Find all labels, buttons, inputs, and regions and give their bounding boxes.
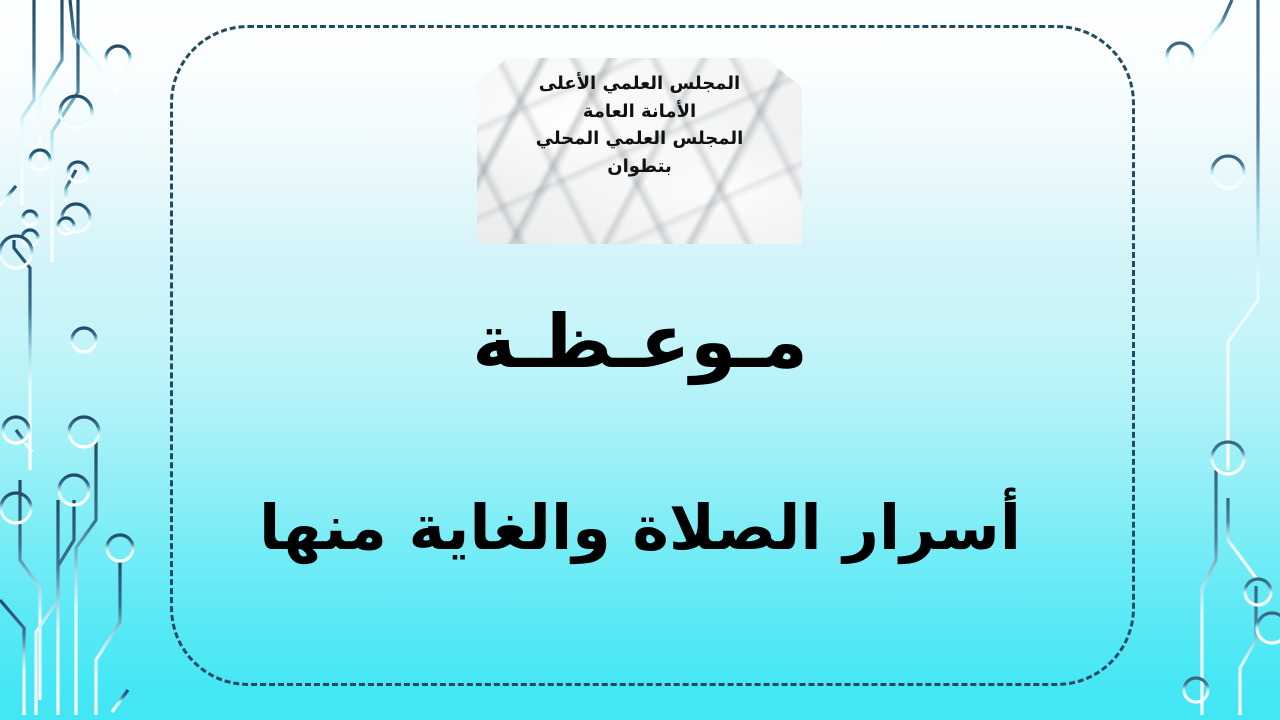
- plaque-line-3: المجلس العلمي المحلي: [493, 125, 786, 153]
- plaque-line-2: الأمانة العامة: [493, 98, 786, 126]
- plaque-line-1: المجلس العلمي الأعلى: [493, 70, 786, 98]
- slide-title: مـوعـظـة: [0, 305, 1280, 379]
- slide-subtitle: أسرار الصلاة والغاية منها: [0, 495, 1280, 562]
- presentation-slide: المجلس العلمي الأعلى الأمانة العامة المج…: [0, 0, 1280, 720]
- organization-header-plaque: المجلس العلمي الأعلى الأمانة العامة المج…: [477, 58, 802, 244]
- plaque-line-4: بتطوان: [493, 153, 786, 181]
